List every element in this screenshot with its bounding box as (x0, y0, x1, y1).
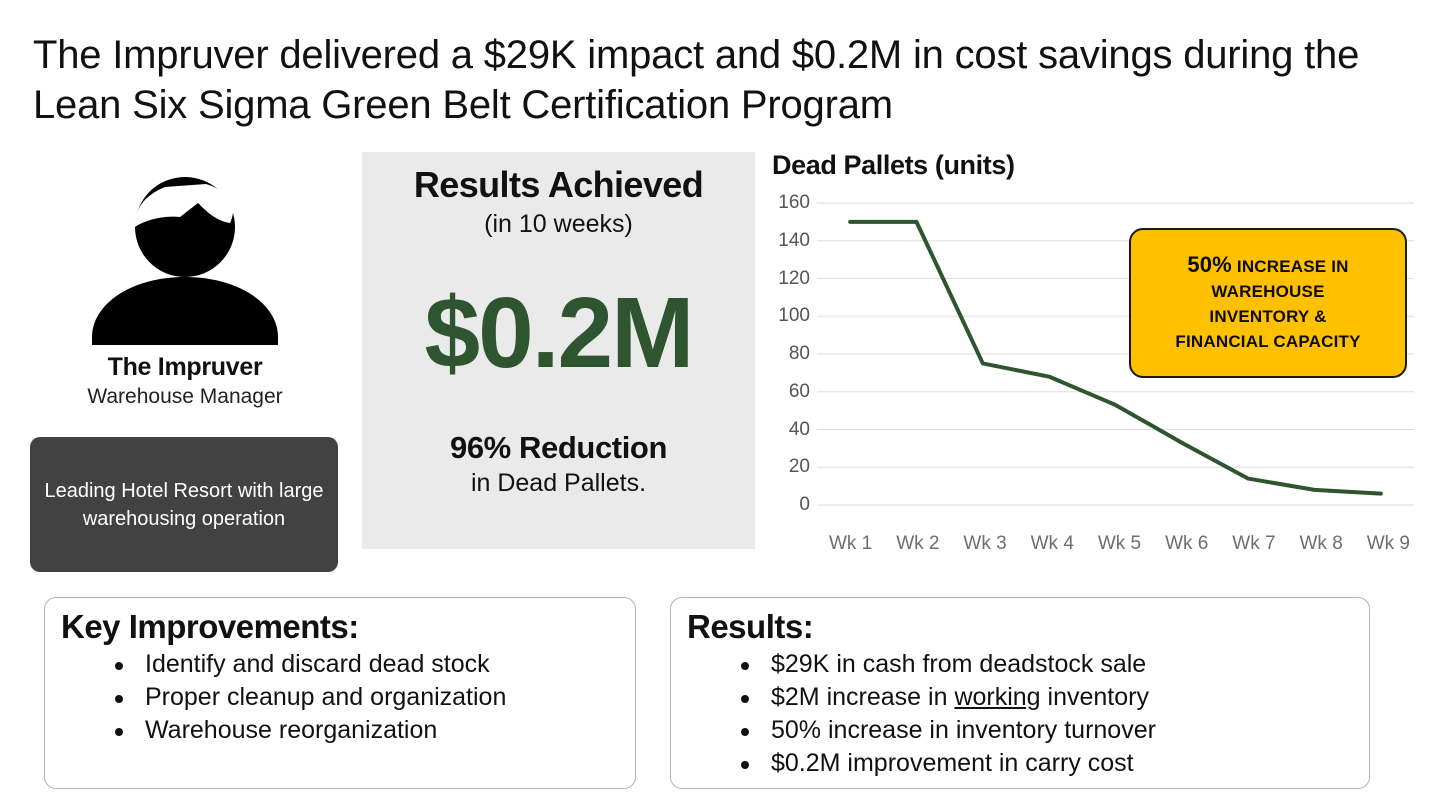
callout-badge: 50% INCREASE IN WAREHOUSE INVENTORY & FI… (1129, 228, 1407, 378)
headline-value: $0.2M (425, 281, 693, 386)
key-improvements-list: Identify and discard dead stockProper cl… (45, 648, 635, 747)
chart-x-tick-label: Wk 3 (951, 533, 1018, 555)
chart-x-tick-label: Wk 8 (1288, 533, 1355, 555)
chart-title: Dead Pallets (units) (772, 150, 1422, 181)
chart-x-tick-label: Wk 9 (1355, 533, 1422, 555)
list-item: $2M increase in working inventory (733, 681, 1369, 714)
chart-x-tick-label: Wk 7 (1220, 533, 1287, 555)
results-box-title: Results: (687, 608, 1369, 646)
reduction-subtext: in Dead Pallets. (471, 469, 646, 498)
key-improvements-box: Key Improvements: Identify and discard d… (44, 597, 636, 789)
list-item: $0.2M improvement in carry cost (733, 747, 1369, 780)
results-list: $29K in cash from deadstock sale$2M incr… (671, 648, 1369, 780)
persona-name: The Impruver (30, 353, 340, 382)
results-panel-title: Results Achieved (414, 164, 703, 206)
chart-x-tick-label: Wk 4 (1019, 533, 1086, 555)
persona-role: Warehouse Manager (30, 385, 340, 409)
chart-x-tick-label: Wk 5 (1086, 533, 1153, 555)
callout-line-1: 50% INCREASE IN (1187, 252, 1348, 279)
results-panel-subtitle: (in 10 weeks) (484, 210, 633, 239)
list-item: Identify and discard dead stock (107, 648, 635, 681)
reduction-headline: 96% Reduction (450, 430, 667, 466)
chart-x-tick-label: Wk 6 (1153, 533, 1220, 555)
list-item: 50% increase in inventory turnover (733, 714, 1369, 747)
chart-x-axis: Wk 1Wk 2Wk 3Wk 4Wk 5Wk 6Wk 7Wk 8Wk 9 (817, 533, 1422, 555)
chart-x-tick-label: Wk 1 (817, 533, 884, 555)
callout-line-1-rest: INCREASE IN (1237, 257, 1349, 276)
results-box: Results: $29K in cash from deadstock sal… (670, 597, 1370, 789)
callout-line-3: INVENTORY & (1209, 304, 1326, 329)
callout-line-4: FINANCIAL CAPACITY (1175, 329, 1360, 354)
list-item: Warehouse reorganization (107, 714, 635, 747)
key-improvements-title: Key Improvements: (61, 608, 635, 646)
infographic-page: The Impruver delivered a $29K impact and… (0, 0, 1435, 801)
chart-x-tick-label: Wk 2 (884, 533, 951, 555)
list-item: Proper cleanup and organization (107, 681, 635, 714)
persona-block: The Impruver Warehouse Manager (30, 165, 340, 409)
results-achieved-panel: Results Achieved (in 10 weeks) $0.2M 96%… (362, 152, 755, 549)
underlined-term: working (954, 683, 1040, 711)
person-avatar-icon (30, 165, 340, 345)
company-note-text: Leading Hotel Resort with large warehous… (30, 477, 338, 533)
callout-emphasis: 50% (1187, 252, 1232, 277)
callout-line-2: WAREHOUSE (1211, 279, 1324, 304)
company-note-box: Leading Hotel Resort with large warehous… (30, 437, 338, 572)
page-title: The Impruver delivered a $29K impact and… (33, 30, 1403, 130)
list-item: $29K in cash from deadstock sale (733, 648, 1369, 681)
